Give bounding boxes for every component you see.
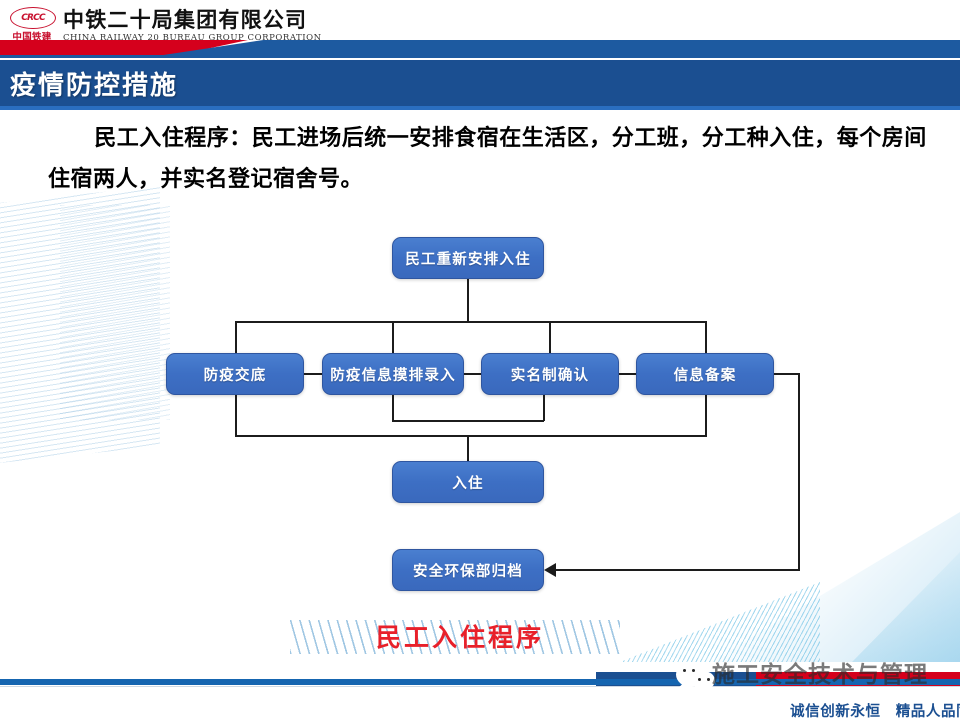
title-underline <box>0 106 960 110</box>
connector-top-trunk <box>467 279 469 323</box>
slide-title-bar: 疫情防控措施 <box>0 60 960 106</box>
flow-node-mid-1[interactable]: 防疫交底 <box>166 353 304 395</box>
flow-node-bottom[interactable]: 安全环保部归档 <box>392 549 544 591</box>
connector-mid-2-3 <box>464 373 481 375</box>
arrow-into-archive-icon <box>544 563 556 577</box>
crcc-mark-text: CRCC <box>21 13 45 23</box>
company-name-block: 中铁二十局集团有限公司 CHINA RAILWAY 20 BUREAU GROU… <box>63 9 322 44</box>
company-name-cn: 中铁二十局集团有限公司 <box>63 9 322 33</box>
connector-up-1 <box>235 395 237 437</box>
crcc-oval-icon: CRCC <box>10 7 56 29</box>
header-thin-rule <box>0 55 960 58</box>
body-paragraph: 民工入住程序：民工进场后统一安排食宿在生活区，分工班，分工种入住，每个房间住宿两… <box>48 118 928 199</box>
flow-node-top[interactable]: 民工重新安排入住 <box>392 237 544 279</box>
connector-return-vertical <box>798 373 800 570</box>
connector-up-2 <box>392 395 394 421</box>
connector-up-3 <box>543 395 545 421</box>
footer-slogan: 诚信创新永恒 精品人品同在 <box>790 700 960 721</box>
flowchart-caption: 民工入住程序 <box>290 618 630 656</box>
caption-label: 民工入住程序 <box>376 618 544 654</box>
connector-return-top <box>774 373 800 375</box>
connector-mid-3-4 <box>619 373 636 375</box>
flow-node-mid-4[interactable]: 信息备案 <box>636 353 774 395</box>
connector-drop-4 <box>705 321 707 355</box>
connector-drop-3 <box>549 321 551 355</box>
connector-bus-bottom-2 <box>392 420 544 422</box>
connector-to-lower <box>467 435 469 461</box>
connector-bus-bottom <box>235 435 705 437</box>
connector-bus-top <box>235 321 705 323</box>
flow-node-lower[interactable]: 入住 <box>392 461 544 503</box>
connector-return-bottom <box>556 569 800 571</box>
page-title: 疫情防控措施 <box>10 65 178 102</box>
connector-mid-1-2 <box>304 373 322 375</box>
connector-up-4 <box>705 395 707 437</box>
connector-drop-2 <box>392 321 394 355</box>
flow-node-mid-2[interactable]: 防疫信息摸排录入 <box>322 353 464 395</box>
flow-node-mid-3[interactable]: 实名制确认 <box>481 353 619 395</box>
slide-header: CRCC 中国铁建 中铁二十局集团有限公司 CHINA RAILWAY 20 B… <box>0 0 960 58</box>
footer-watermark: 施工安全技术与管理 <box>712 655 928 689</box>
connector-drop-1 <box>235 321 237 355</box>
flowchart: 民工重新安排入住 防疫交底 防疫信息摸排录入 实名制确认 信息备案 入住 安全环… <box>0 215 960 615</box>
